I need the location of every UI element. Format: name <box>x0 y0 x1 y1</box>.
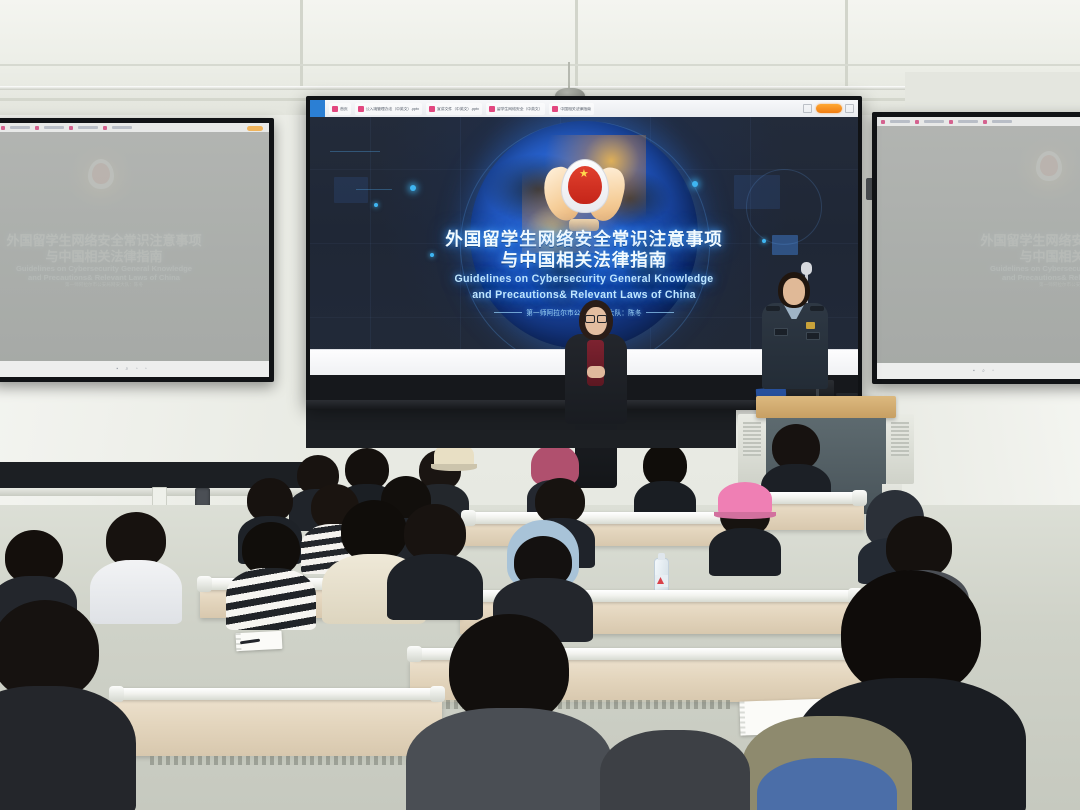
podium-speaker-left <box>738 414 766 484</box>
ceiling-corner-panel <box>905 72 1080 116</box>
officer-epaulette <box>766 306 780 311</box>
network-node <box>410 185 416 191</box>
right-screen-browser-bar <box>877 117 1080 126</box>
right-screen-taskbar: ▪ ⌕ ▫ <box>877 363 1080 379</box>
browser-tab[interactable]: 中国相关法律指南 <box>549 103 593 115</box>
browser-tab-label: 宣讲文件（中英文）.pptx <box>437 106 479 111</box>
slide-title-cn-line2: 与中国相关法律指南 <box>310 250 858 271</box>
bottle-label <box>655 575 668 587</box>
podium-speaker-right <box>886 414 914 484</box>
highlight-pill-button[interactable] <box>816 104 842 113</box>
police-officer <box>762 272 828 392</box>
audience-member-foreground <box>752 686 902 810</box>
china-police-emblem-icon: ★ <box>548 153 620 235</box>
browser-tab[interactable]: 宣讲文件（中英文）.pptx <box>426 103 482 115</box>
glasses-icon <box>585 315 607 321</box>
audience-member-pink-cap <box>712 482 778 570</box>
pdf-file-icon <box>332 106 338 112</box>
light-switch[interactable] <box>152 487 167 506</box>
audience-member-foreground <box>0 600 120 810</box>
audience-member <box>394 504 476 616</box>
network-node <box>692 181 698 187</box>
edge-browser-icon[interactable] <box>310 100 325 117</box>
browser-tab[interactable]: 首页 <box>329 103 351 115</box>
pdf-file-icon <box>429 106 435 112</box>
browser-tab-label: 公入境管理办法（中英文）.pptx <box>366 106 419 111</box>
left-screen-pill-button <box>247 126 263 131</box>
ceiling-speaker-stem <box>568 62 570 90</box>
presenter-top <box>587 340 604 386</box>
slide-decoration <box>334 177 368 203</box>
left-screen-browser-bar <box>0 123 269 132</box>
browser-tab-label: 留学生网络安全（中英文） <box>497 106 543 111</box>
audience-member-foreground <box>424 614 594 810</box>
ceiling-seam <box>0 64 1080 66</box>
officer-face <box>783 278 805 305</box>
desk-modesty-grill <box>150 756 420 765</box>
left-screen-taskbar: ▪ ⌕ ▫ ▫ <box>0 361 269 377</box>
ceiling-panel-seam <box>300 0 303 90</box>
browser-tab[interactable]: 留学生网络安全（中英文） <box>486 103 546 115</box>
more-options-icon[interactable] <box>803 104 812 113</box>
browser-tab-label: 首页 <box>340 106 348 111</box>
podium-top <box>756 396 896 418</box>
right-screen-washout <box>877 117 1080 379</box>
audience-member <box>636 443 694 519</box>
minimize-icon[interactable] <box>845 104 854 113</box>
left-projection-screen: 外国留学生网络安全常识注意事项 与中国相关法律指南 Guidelines on … <box>0 118 274 382</box>
pdf-file-icon <box>358 106 364 112</box>
officer-epaulette <box>810 306 824 311</box>
browser-tab-bar: 首页 公入境管理办法（中英文）.pptx 宣讲文件（中英文）.pptx 留学生网… <box>310 100 858 117</box>
lecture-hall-photo: 外国留学生网络安全常识注意事项 与中国相关法律指南 Guidelines on … <box>0 0 1080 810</box>
pdf-file-icon <box>552 106 558 112</box>
network-node <box>374 203 378 207</box>
left-screen-washout <box>0 123 269 377</box>
right-projection-screen: 外国留学生网络安全常识注意事项 与中国相关法律指南 Guidelines on … <box>872 112 1080 384</box>
presenter-hands <box>587 366 605 378</box>
officer-badge <box>806 322 815 329</box>
officer-pocket-patch <box>774 328 788 336</box>
browser-tab-label: 中国相关法律指南 <box>560 106 590 111</box>
ceiling-panel-seam <box>575 0 578 90</box>
lecture-desk <box>112 700 442 756</box>
audience-member-foreground <box>610 700 740 810</box>
browser-tab[interactable]: 公入境管理办法（中英文）.pptx <box>355 103 422 115</box>
pdf-file-icon <box>489 106 495 112</box>
desk-rail <box>112 688 442 700</box>
officer-nameplate <box>806 332 820 340</box>
slide-title-cn-line1: 外国留学生网络安全常识注意事项 <box>310 229 858 250</box>
audience-member-striped <box>232 522 310 628</box>
desk-shadow <box>306 430 736 448</box>
ceiling-panel-seam <box>845 0 848 90</box>
